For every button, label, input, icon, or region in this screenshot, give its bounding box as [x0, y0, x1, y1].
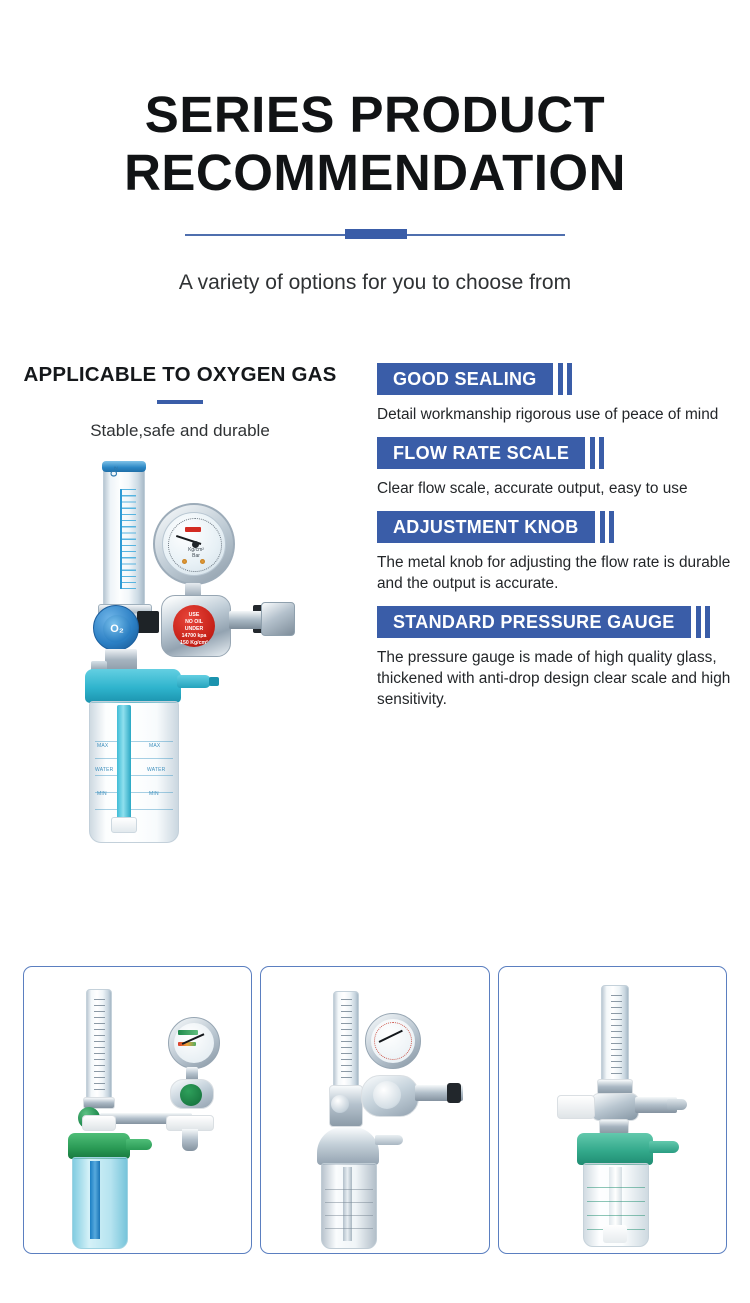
thumb3-bottle-cap: [577, 1133, 653, 1165]
thumb1-regulator-label: [180, 1084, 202, 1106]
thumb1-white-coupler-left: [82, 1115, 116, 1131]
thumb1-bottle-nozzle: [126, 1139, 152, 1150]
thumb3-outlet-nipple: [667, 1099, 687, 1110]
flowmeter-scale-ticks: [122, 489, 136, 589]
left-section-subheading: Stable,safe and durable: [0, 421, 360, 441]
feature-badge-row: GOOD SEALING: [377, 363, 739, 395]
page-title-line-1: SERIES PRODUCT: [0, 86, 750, 144]
product-thumbnail-image: [261, 967, 488, 1253]
pressure-gauge-red-marker: [185, 527, 201, 532]
page-title-line-2: RECOMMENDATION: [0, 144, 750, 202]
thumb1-probe-tip: [182, 1129, 198, 1151]
left-section-heading: APPLICABLE TO OXYGEN GAS: [0, 363, 360, 387]
humidifier-outlet-nozzle: [177, 675, 211, 688]
thumb3-flowmeter-ticks: [611, 995, 622, 1075]
adjustment-knob-label: O₂: [103, 623, 131, 635]
thumb1-bottle-cap: [68, 1133, 130, 1159]
bottle-mark-max-right: MAX: [149, 743, 160, 749]
thumb2-pressure-gauge: [365, 1013, 421, 1069]
feature-list: GOOD SEALING Detail workmanship rigorous…: [377, 363, 739, 722]
humidifier-cap: [85, 669, 181, 703]
humidifier-diffuser-tube: [117, 705, 131, 823]
humidifier-graduations: [95, 741, 173, 811]
flowmeter-o2-label: O₂: [109, 466, 119, 477]
feature-badge-bars-icon: [696, 606, 714, 638]
page-header: SERIES PRODUCT RECOMMENDATION A variety …: [0, 0, 750, 295]
page-subtitle: A variety of options for you to choose f…: [0, 271, 750, 295]
hero-product-image: O₂ Kg/cm² Bar: [65, 455, 295, 875]
product-card-chrome-regulator[interactable]: [260, 966, 489, 1254]
feature-badge-row: ADJUSTMENT KNOB: [377, 511, 739, 543]
thumb1-diffuser-tube: [90, 1161, 100, 1239]
feature-badge-label: FLOW RATE SCALE: [377, 437, 585, 469]
feature-description: Detail workmanship rigorous use of peace…: [377, 404, 739, 425]
feature-badge-row: FLOW RATE SCALE: [377, 437, 739, 469]
thumb3-diffuser-stone: [603, 1225, 627, 1243]
pressure-gauge: Kg/cm² Bar: [153, 503, 235, 585]
product-card-teal-flowmeter[interactable]: [498, 966, 727, 1254]
feature-badge-label: ADJUSTMENT KNOB: [377, 511, 595, 543]
feature-badge-label: GOOD SEALING: [377, 363, 553, 395]
feature-item-flow-rate-scale: FLOW RATE SCALE Clear flow scale, accura…: [377, 437, 739, 499]
feature-description: The pressure gauge is made of high quali…: [377, 647, 739, 710]
feature-item-adjustment-knob: ADJUSTMENT KNOB The metal knob for adjus…: [377, 511, 739, 594]
bottle-mark-min-left: MIN: [97, 791, 107, 797]
thumb2-flowmeter-ticks: [341, 999, 352, 1081]
feature-badge-row: STANDARD PRESSURE GAUGE: [377, 606, 739, 638]
adjustment-knob: O₂: [93, 605, 139, 651]
thumb2-outlet-cap: [447, 1083, 461, 1103]
feature-badge-bars-icon: [558, 363, 576, 395]
product-thumbnail-gallery: [0, 966, 750, 1254]
flow-valve-dark-block: [137, 611, 159, 633]
left-column: APPLICABLE TO OXYGEN GAS Stable,safe and…: [0, 363, 360, 875]
bottle-mark-water-right: WATER: [147, 767, 166, 773]
humidifier-diffuser-stone: [111, 817, 137, 833]
page-title: SERIES PRODUCT RECOMMENDATION: [0, 86, 750, 202]
thumb3-valve-body: [591, 1093, 639, 1121]
title-divider: [185, 228, 565, 242]
thumb2-bottle-shoulder: [317, 1127, 379, 1165]
thumb3-white-coupler: [557, 1095, 595, 1119]
pressure-gauge-face: Kg/cm² Bar: [162, 512, 226, 576]
feature-item-good-sealing: GOOD SEALING Detail workmanship rigorous…: [377, 363, 739, 425]
bottle-mark-water-left: WATER: [95, 767, 114, 773]
product-thumbnail-image: [499, 967, 726, 1253]
bottle-mark-max-left: MAX: [97, 743, 108, 749]
feature-badge-bars-icon: [590, 437, 608, 469]
bottle-mark-min-right: MIN: [149, 791, 159, 797]
thumb2-bottle-nozzle: [375, 1135, 403, 1145]
thumb2-bottle-graduations: [325, 1189, 373, 1231]
thumb3-bottle-nozzle: [649, 1141, 679, 1153]
pressure-gauge-hub: [192, 541, 199, 548]
feature-badge-label: STANDARD PRESSURE GAUGE: [377, 606, 691, 638]
regulator-warning-label: USENO OILUNDER14700 kpa150 Kg/cm²: [173, 605, 215, 647]
feature-item-standard-pressure-gauge: STANDARD PRESSURE GAUGE The pressure gau…: [377, 606, 739, 710]
adjustment-knob-face: O₂: [103, 615, 131, 643]
main-content: APPLICABLE TO OXYGEN GAS Stable,safe and…: [0, 363, 750, 883]
feature-description: The metal knob for adjusting the flow ra…: [377, 552, 739, 594]
divider-accent-block: [345, 229, 407, 239]
regulator-inlet-nut: [261, 602, 295, 636]
product-card-green-regulator[interactable]: [23, 966, 252, 1254]
pressure-gauge-screw-right: [200, 559, 205, 564]
pressure-gauge-screw-left: [182, 559, 187, 564]
feature-badge-bars-icon: [600, 511, 618, 543]
feature-description: Clear flow scale, accurate output, easy …: [377, 478, 739, 499]
left-heading-underline: [157, 400, 203, 404]
thumb1-humidifier-bottle: [72, 1157, 128, 1249]
thumb1-pressure-gauge: [168, 1017, 220, 1069]
product-recommendation-page: SERIES PRODUCT RECOMMENDATION A variety …: [0, 0, 750, 1303]
pressure-gauge-unit-text: Kg/cm² Bar: [179, 547, 213, 559]
thumb1-flowmeter-ticks: [94, 999, 105, 1091]
thumb1-gauge-green-zone: [178, 1030, 198, 1035]
product-thumbnail-image: [24, 967, 251, 1253]
